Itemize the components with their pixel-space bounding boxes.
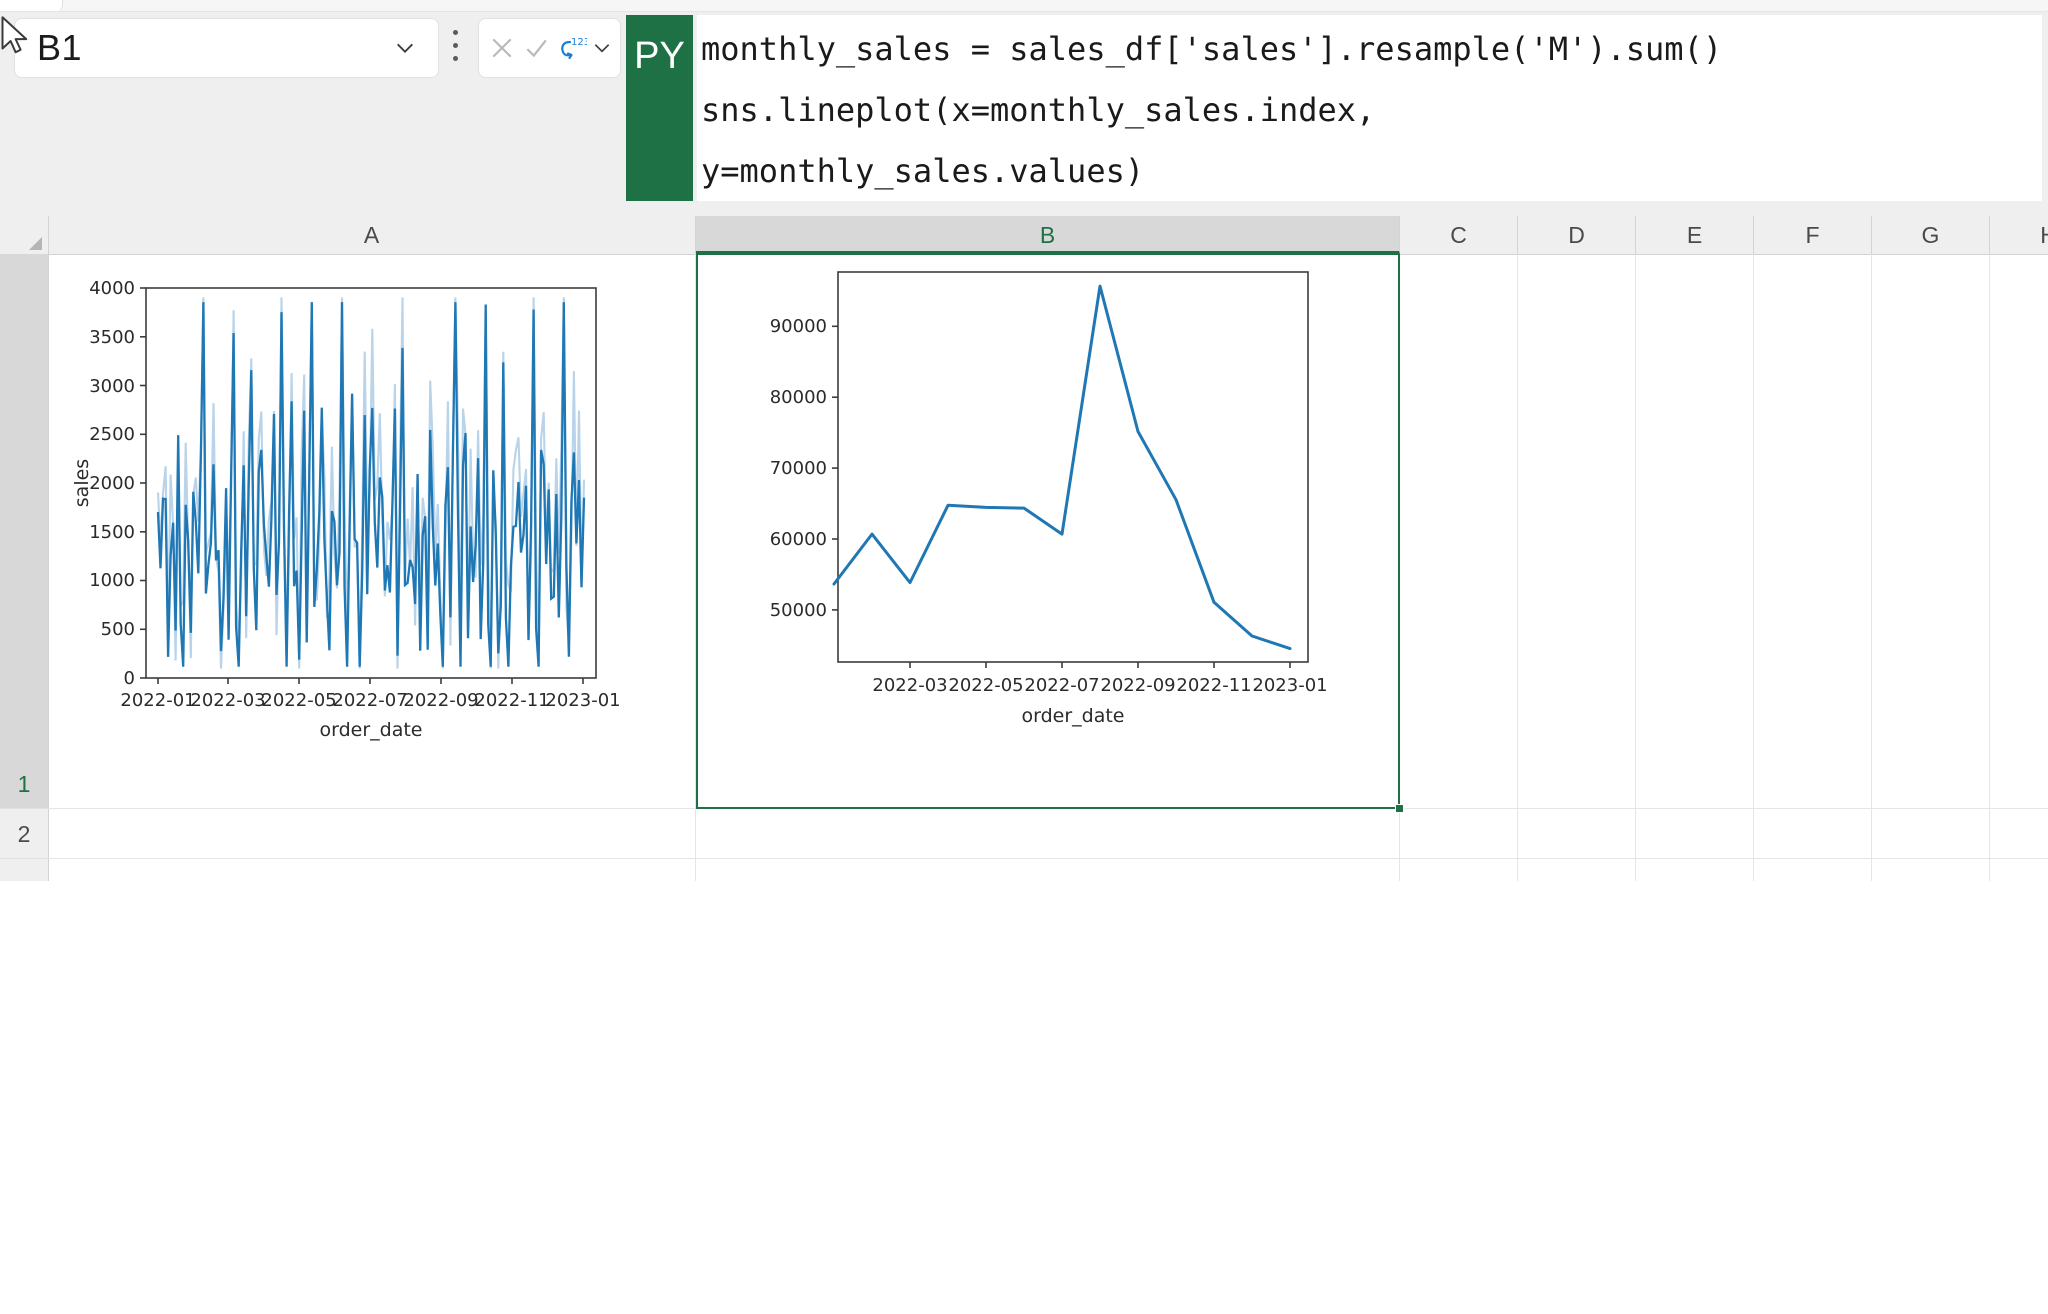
x-tick-label: 2022-11 — [1176, 675, 1251, 696]
y-tick-label: 500 — [101, 619, 135, 640]
cancel-x-icon[interactable] — [489, 35, 515, 61]
x-tick-label: 2022-11 — [474, 690, 549, 711]
y-tick-label: 70000 — [770, 458, 827, 479]
y-tick-label: 90000 — [770, 316, 827, 337]
python-cell-badge-label: PY — [634, 37, 685, 75]
y-tick-label: 60000 — [770, 529, 827, 550]
window-top-strip — [0, 0, 2048, 12]
formula-controls: 123 — [478, 18, 621, 78]
grid-line-vertical — [1517, 254, 1518, 881]
insert-function-123-icon[interactable]: 123 — [557, 33, 587, 63]
y-tick-label: 3000 — [89, 376, 135, 397]
y-tick-label: 3500 — [89, 327, 135, 348]
y-tick-label: 50000 — [770, 600, 827, 621]
x-tick-label: 2022-09 — [403, 690, 478, 711]
column-header-C[interactable]: C — [1400, 216, 1518, 254]
chevron-down-icon[interactable] — [394, 37, 416, 59]
y-tick-label: 0 — [124, 668, 135, 689]
svg-text:123: 123 — [571, 37, 587, 48]
row-header-2[interactable]: 2 — [0, 809, 48, 859]
column-header-A[interactable]: A — [48, 216, 696, 254]
x-tick-label: 2023-01 — [1252, 675, 1327, 696]
formula-line-2: sns.lineplot(x=monthly_sales.index, — [697, 80, 2042, 141]
column-header-F[interactable]: F — [1754, 216, 1872, 254]
y-tick-label: 2500 — [89, 424, 135, 445]
select-all-corner[interactable] — [0, 216, 49, 254]
y-tick-label: 80000 — [770, 387, 827, 408]
column-header-row: A B C D E F G H — [0, 216, 2048, 255]
y-tick-label: 2000 — [89, 473, 135, 494]
x-axis-label: order_date — [319, 719, 422, 741]
column-header-B[interactable]: B — [696, 216, 1400, 254]
x-axis-label: order_date — [1021, 705, 1124, 727]
monthly-sales-chart[interactable]: 50000 60000 70000 80000 90000 2022-03 20… — [708, 254, 1398, 799]
x-tick-label: 2022-07 — [332, 690, 407, 711]
x-tick-label: 2022-05 — [261, 690, 336, 711]
y-axis-label: sales — [71, 459, 93, 507]
x-tick-label: 2022-03 — [190, 690, 265, 711]
x-tick-label: 2022-07 — [1024, 675, 1099, 696]
column-header-H[interactable]: H — [1990, 216, 2048, 254]
daily-sales-chart[interactable]: 0 500 1000 1500 2000 2500 3000 3500 4000 — [58, 266, 688, 806]
formula-line-1: monthly_sales = sales_df['sales'].resamp… — [697, 19, 2042, 80]
chevron-down-icon[interactable] — [592, 38, 612, 58]
grid-line-vertical — [1989, 254, 1990, 881]
grid-line-vertical — [695, 254, 696, 881]
row-header-column: 1 2 — [0, 254, 49, 881]
x-tick-label: 2022-09 — [1100, 675, 1175, 696]
confirm-check-icon[interactable] — [523, 35, 549, 61]
y-tick-label: 4000 — [89, 278, 135, 299]
column-header-E[interactable]: E — [1636, 216, 1754, 254]
x-tick-label: 2023-01 — [545, 690, 620, 711]
more-options-icon[interactable] — [450, 30, 460, 66]
x-tick-label: 2022-03 — [872, 675, 947, 696]
formula-bar-area: B1 123 PY monthly_sales = sales_df['sale… — [0, 0, 2048, 216]
row-header-1[interactable]: 1 — [0, 254, 48, 809]
grid-line-horizontal — [48, 808, 2048, 809]
x-tick-label: 2022-05 — [948, 675, 1023, 696]
column-header-G[interactable]: G — [1872, 216, 1990, 254]
grid-line-vertical — [1871, 254, 1872, 881]
formula-input[interactable]: monthly_sales = sales_df['sales'].resamp… — [697, 15, 2042, 201]
y-tick-label: 1500 — [89, 522, 135, 543]
grid-line-vertical — [1635, 254, 1636, 881]
grid-line-vertical — [1753, 254, 1754, 881]
y-tick-label: 1000 — [89, 570, 135, 591]
formula-line-3: y=monthly_sales.values) — [697, 141, 2042, 202]
name-box-value: B1 — [37, 27, 82, 69]
x-tick-label: 2022-01 — [120, 690, 195, 711]
window-top-strip-tab — [0, 0, 63, 11]
name-box[interactable]: B1 — [14, 18, 439, 78]
python-cell-badge: PY — [626, 15, 693, 201]
fill-handle[interactable] — [1395, 804, 1404, 813]
cells-area: 0 500 1000 1500 2000 2500 3000 3500 4000 — [48, 254, 2048, 881]
spreadsheet-grid: A B C D E F G H 1 2 — [0, 216, 2048, 881]
grid-line-vertical — [1399, 254, 1400, 881]
grid-line-horizontal — [48, 858, 2048, 859]
column-header-D[interactable]: D — [1518, 216, 1636, 254]
